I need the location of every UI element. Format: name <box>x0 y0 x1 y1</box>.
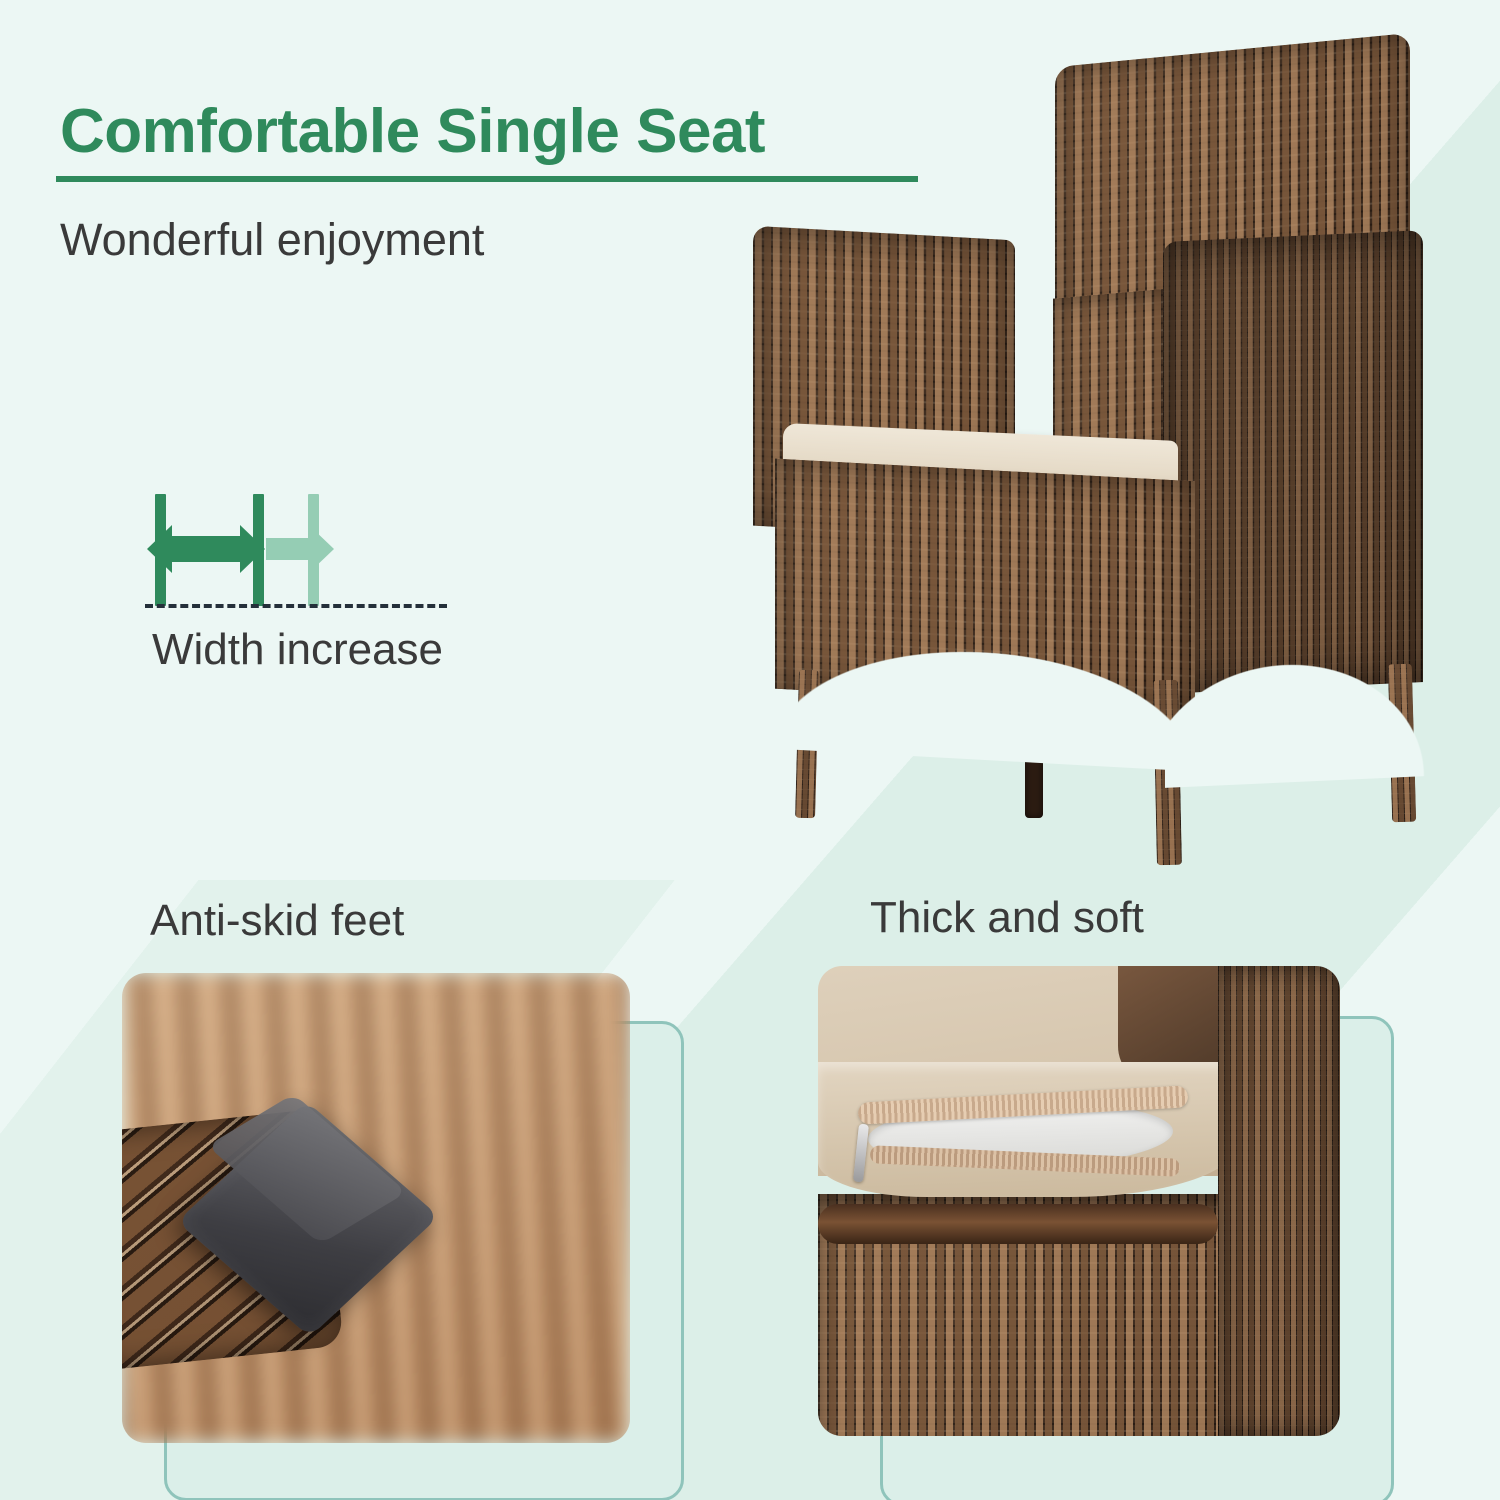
chair-seat-arch-cutout <box>775 629 1195 772</box>
anti-skid-foot-photo <box>122 973 630 1443</box>
thick-and-soft-label: Thick and soft <box>870 893 1144 943</box>
wicker-corner-post <box>1218 966 1340 1436</box>
cushion-zipper-photo <box>818 966 1340 1436</box>
chair-foot-closeup <box>122 1091 412 1391</box>
width-marker-bar-right <box>308 494 319 606</box>
width-marker-bar-middle <box>253 494 264 606</box>
chair-seat-arch-cutout-right <box>1165 646 1425 788</box>
anti-skid-feet-label: Anti-skid feet <box>150 896 404 946</box>
rattan-armchair-photo <box>735 40 1455 850</box>
page-subtitle: Wonderful enjoyment <box>60 214 484 266</box>
double-arrow-icon <box>172 536 240 562</box>
marketing-infographic: Comfortable Single Seat Wonderful enjoym… <box>0 0 1500 1500</box>
title-underline <box>56 176 918 182</box>
single-arrow-icon <box>266 538 312 560</box>
cushion-zipper-panel <box>818 966 1388 1500</box>
anti-skid-foot-panel <box>122 973 678 1495</box>
width-increase-icon <box>150 494 460 606</box>
width-divider-line <box>145 604 447 608</box>
width-increase-label: Width increase <box>152 625 443 675</box>
wicker-top-rail <box>818 1204 1218 1244</box>
page-title: Comfortable Single Seat <box>60 101 765 163</box>
chair-armrest-right <box>1163 230 1423 694</box>
